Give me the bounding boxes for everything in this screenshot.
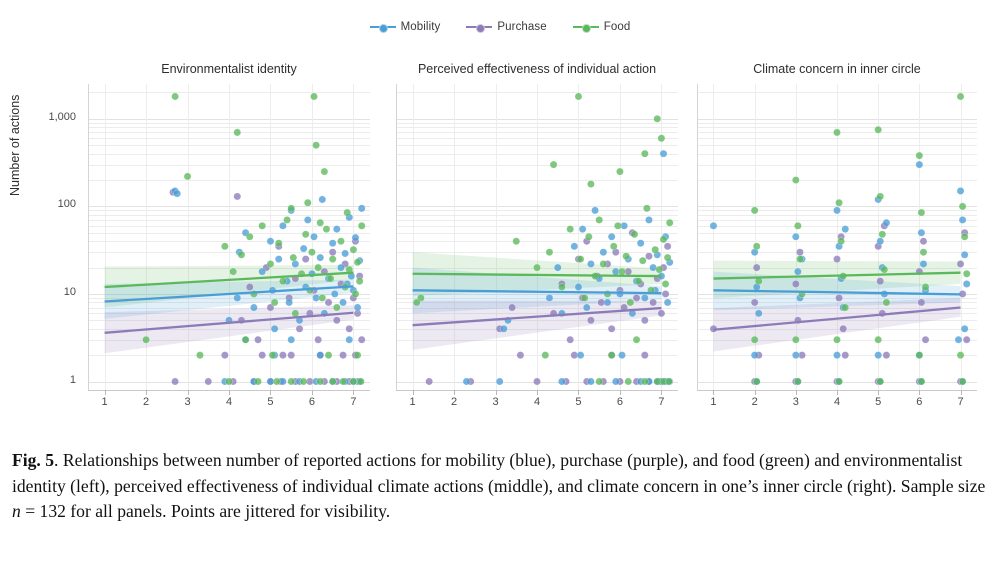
x-tick-mark: [270, 390, 271, 395]
x-tick-mark: [837, 390, 838, 395]
data-point-food: [665, 378, 672, 385]
data-point-food: [550, 161, 557, 168]
data-point-food: [304, 199, 311, 206]
food-legend-key: [573, 21, 599, 33]
data-point-food: [625, 378, 632, 385]
data-point-mobility: [792, 233, 799, 240]
data-point-mobility: [963, 280, 970, 287]
x-tick-mark: [413, 390, 414, 395]
data-point-mobility: [600, 249, 607, 256]
data-point-food: [918, 209, 925, 216]
data-point-food: [641, 150, 648, 157]
data-point-purchase: [608, 325, 615, 332]
data-point-food: [317, 378, 324, 385]
data-point-mobility: [292, 260, 299, 267]
data-point-food: [238, 251, 245, 258]
data-point-purchase: [957, 260, 964, 267]
data-point-mobility: [234, 294, 241, 301]
data-point-mobility: [310, 233, 317, 240]
data-point-mobility: [755, 310, 762, 317]
data-point-food: [581, 294, 588, 301]
x-tick-mark: [755, 390, 756, 395]
data-point-purchase: [339, 352, 346, 359]
data-point-food: [533, 264, 540, 271]
data-point-mobility: [710, 222, 717, 229]
data-point-mobility: [571, 243, 578, 250]
y-axis-ticks: 1,000100101: [30, 0, 76, 438]
data-point-food: [875, 126, 882, 133]
data-point-mobility: [500, 325, 507, 332]
data-point-mobility: [463, 378, 470, 385]
data-point-mobility: [957, 187, 964, 194]
data-point-purchase: [796, 249, 803, 256]
data-point-mobility: [300, 245, 307, 252]
data-point-mobility: [250, 304, 257, 311]
data-point-food: [350, 246, 357, 253]
data-point-mobility: [496, 378, 503, 385]
data-point-food: [639, 257, 646, 264]
data-point-mobility: [920, 260, 927, 267]
x-tick-label-p2-3: 4: [834, 396, 840, 408]
caption-text-part1: . Relationships between number of report…: [12, 450, 985, 496]
data-point-mobility: [271, 325, 278, 332]
panel-title-1: Perceived effectiveness of individual ac…: [396, 62, 678, 76]
y-tick-label-1: 100: [30, 198, 76, 210]
x-tick-label-p2-4: 5: [875, 396, 881, 408]
data-point-food: [321, 168, 328, 175]
data-point-food: [288, 378, 295, 385]
data-point-food: [658, 135, 665, 142]
x-tick-label-p2-0: 1: [710, 396, 716, 408]
data-point-food: [959, 378, 966, 385]
data-point-mobility: [875, 352, 882, 359]
data-point-mobility: [616, 290, 623, 297]
data-point-food: [302, 231, 309, 238]
data-point-food: [354, 259, 361, 266]
data-point-purchase: [279, 352, 286, 359]
caption-text-part2: = 132 for all panels. Points are jittere…: [21, 501, 390, 521]
data-point-purchase: [358, 336, 365, 343]
data-point-purchase: [877, 278, 884, 285]
data-point-food: [329, 256, 336, 263]
data-point-mobility: [329, 240, 336, 247]
x-tick-label-p2-6: 7: [957, 396, 963, 408]
data-point-purchase: [288, 352, 295, 359]
data-point-mobility: [587, 378, 594, 385]
data-point-purchase: [645, 253, 652, 260]
data-point-purchase: [325, 299, 332, 306]
x-tick-mark: [620, 390, 621, 395]
figure-caption: Fig. 5. Relationships between number of …: [12, 448, 988, 525]
data-point-food: [796, 256, 803, 263]
data-point-mobility: [174, 190, 181, 197]
y-tick-label-2: 10: [30, 286, 76, 298]
data-point-food: [835, 378, 842, 385]
y-tick-label-0: 1,000: [30, 111, 76, 123]
data-point-mobility: [618, 352, 625, 359]
legend-item-food: Food: [573, 21, 631, 33]
data-point-food: [881, 266, 888, 273]
x-tick-mark: [105, 390, 106, 395]
data-point-food: [652, 246, 659, 253]
data-point-food: [357, 378, 364, 385]
data-point-mobility: [842, 226, 849, 233]
data-point-food: [623, 253, 630, 260]
x-tick-mark: [496, 390, 497, 395]
x-tick-mark: [454, 390, 455, 395]
data-point-food: [259, 222, 266, 229]
data-point-purchase: [315, 336, 322, 343]
data-point-purchase: [533, 378, 540, 385]
data-point-mobility: [604, 299, 611, 306]
data-point-purchase: [633, 294, 640, 301]
legend-label-food: Food: [604, 21, 631, 33]
data-point-mobility: [317, 352, 324, 359]
data-point-food: [662, 280, 669, 287]
x-tick-mark: [188, 390, 189, 395]
x-tick-mark: [919, 390, 920, 395]
data-point-food: [319, 294, 326, 301]
mobility-legend-key: [370, 21, 396, 33]
data-point-purchase: [296, 325, 303, 332]
data-point-mobility: [959, 216, 966, 223]
data-point-purchase: [254, 336, 261, 343]
data-point-purchase: [920, 238, 927, 245]
data-point-purchase: [641, 317, 648, 324]
data-point-food: [242, 336, 249, 343]
data-point-food: [643, 205, 650, 212]
x-tick-mark: [578, 390, 579, 395]
data-point-food: [963, 270, 970, 277]
data-point-food: [300, 378, 307, 385]
data-point-purchase: [329, 249, 336, 256]
data-point-food: [961, 233, 968, 240]
x-tick-label-p1-2: 3: [492, 396, 498, 408]
data-point-purchase: [792, 280, 799, 287]
x-tick-label-p1-6: 7: [658, 396, 664, 408]
data-point-food: [310, 93, 317, 100]
data-point-purchase: [205, 378, 212, 385]
data-point-food: [753, 243, 760, 250]
data-point-mobility: [352, 234, 359, 241]
x-tick-mark: [229, 390, 230, 395]
data-point-food: [916, 352, 923, 359]
data-point-food: [323, 226, 330, 233]
x-tick-mark: [961, 390, 962, 395]
data-point-food: [279, 278, 286, 285]
data-point-food: [635, 278, 642, 285]
data-point-purchase: [171, 378, 178, 385]
data-point-purchase: [259, 352, 266, 359]
data-point-food: [792, 336, 799, 343]
data-point-food: [221, 243, 228, 250]
data-point-food: [546, 249, 553, 256]
data-point-food: [317, 219, 324, 226]
data-point-mobility: [267, 238, 274, 245]
x-tick-label-p1-5: 6: [617, 396, 623, 408]
x-tick-mark: [312, 390, 313, 395]
data-point-food: [633, 336, 640, 343]
data-point-food: [290, 254, 297, 261]
data-point-food: [184, 173, 191, 180]
data-point-food: [666, 219, 673, 226]
data-point-food: [329, 378, 336, 385]
data-point-food: [356, 278, 363, 285]
data-point-purchase: [333, 317, 340, 324]
panel-title-0: Environmentalist identity: [88, 62, 370, 76]
data-point-mobility: [794, 268, 801, 275]
data-point-food: [283, 216, 290, 223]
data-point-mobility: [591, 207, 598, 214]
data-point-food: [513, 238, 520, 245]
data-point-mobility: [304, 216, 311, 223]
data-point-purchase: [567, 336, 574, 343]
scatter-panel-0: [88, 84, 370, 390]
data-point-food: [269, 352, 276, 359]
x-tick-label-p1-1: 2: [451, 396, 457, 408]
data-point-food: [271, 299, 278, 306]
x-tick-label-p0-5: 6: [309, 396, 315, 408]
data-point-food: [292, 310, 299, 317]
data-point-food: [922, 283, 929, 290]
data-point-purchase: [963, 336, 970, 343]
data-point-mobility: [961, 251, 968, 258]
legend-item-purchase: Purchase: [466, 21, 546, 33]
data-point-mobility: [317, 254, 324, 261]
data-point-food: [234, 129, 241, 136]
data-point-mobility: [579, 226, 586, 233]
data-point-food: [596, 378, 603, 385]
x-tick-label-p2-2: 3: [793, 396, 799, 408]
data-point-food: [751, 207, 758, 214]
data-point-purchase: [346, 325, 353, 332]
data-point-purchase: [246, 283, 253, 290]
data-point-food: [751, 336, 758, 343]
data-point-mobility: [331, 290, 338, 297]
data-point-purchase: [883, 352, 890, 359]
data-point-food: [610, 243, 617, 250]
data-point-mobility: [546, 294, 553, 301]
data-point-food: [641, 378, 648, 385]
data-point-mobility: [916, 161, 923, 168]
figure-panel: MobilityPurchaseFood Number of actions 1…: [0, 0, 1000, 438]
data-point-food: [656, 266, 663, 273]
data-point-food: [794, 378, 801, 385]
data-point-food: [337, 238, 344, 245]
x-tick-mark: [146, 390, 147, 395]
data-point-food: [918, 378, 925, 385]
y-tick-label-3: 1: [30, 374, 76, 386]
data-point-food: [567, 226, 574, 233]
data-point-mobility: [918, 229, 925, 236]
data-point-mobility: [645, 216, 652, 223]
data-point-purchase: [753, 264, 760, 271]
data-point-food: [627, 299, 634, 306]
data-point-food: [267, 260, 274, 267]
data-point-mobility: [877, 238, 884, 245]
panel-title-2: Climate concern in inner circle: [697, 62, 977, 76]
data-point-food: [312, 142, 319, 149]
data-point-mobility: [664, 299, 671, 306]
data-point-mobility: [641, 294, 648, 301]
data-point-food: [842, 304, 849, 311]
data-point-purchase: [662, 290, 669, 297]
data-point-food: [327, 275, 334, 282]
data-point-mobility: [577, 352, 584, 359]
data-point-purchase: [221, 352, 228, 359]
x-tick-label-p1-3: 4: [534, 396, 540, 408]
data-point-food: [664, 254, 671, 261]
data-point-food: [616, 168, 623, 175]
x-tick-label-p0-4: 5: [267, 396, 273, 408]
data-point-purchase: [517, 352, 524, 359]
data-point-purchase: [833, 256, 840, 263]
data-point-mobility: [558, 378, 565, 385]
legend-label-purchase: Purchase: [497, 21, 546, 33]
purchase-legend-key: [466, 21, 492, 33]
x-tick-label-p0-1: 2: [143, 396, 149, 408]
caption-n-symbol: n: [12, 501, 21, 521]
data-point-food: [413, 299, 420, 306]
data-point-food: [171, 93, 178, 100]
data-point-purchase: [922, 336, 929, 343]
data-point-food: [358, 222, 365, 229]
data-point-food: [587, 180, 594, 187]
data-point-mobility: [833, 352, 840, 359]
data-point-mobility: [342, 250, 349, 257]
data-point-purchase: [840, 325, 847, 332]
data-point-food: [875, 336, 882, 343]
data-point-purchase: [650, 299, 657, 306]
x-tick-mark: [796, 390, 797, 395]
data-point-food: [794, 222, 801, 229]
data-point-mobility: [955, 336, 962, 343]
data-point-food: [877, 193, 884, 200]
data-point-food: [558, 283, 565, 290]
x-tick-mark: [878, 390, 879, 395]
legend-item-mobility: Mobility: [370, 21, 441, 33]
data-point-food: [833, 129, 840, 136]
data-point-mobility: [637, 240, 644, 247]
x-tick-label-p0-2: 3: [184, 396, 190, 408]
data-point-food: [575, 93, 582, 100]
x-tick-label-p0-0: 1: [102, 396, 108, 408]
data-point-food: [542, 352, 549, 359]
data-point-food: [835, 199, 842, 206]
data-point-food: [833, 336, 840, 343]
data-point-food: [660, 236, 667, 243]
data-point-purchase: [302, 256, 309, 263]
data-point-purchase: [918, 299, 925, 306]
data-point-food: [959, 203, 966, 210]
x-tick-label-p1-4: 5: [575, 396, 581, 408]
data-point-food: [577, 256, 584, 263]
x-tick-mark: [353, 390, 354, 395]
data-point-food: [608, 352, 615, 359]
data-point-mobility: [575, 283, 582, 290]
data-point-purchase: [658, 310, 665, 317]
x-tick-label-p1-0: 1: [410, 396, 416, 408]
data-point-food: [354, 352, 361, 359]
data-point-food: [308, 249, 315, 256]
data-point-food: [350, 378, 357, 385]
data-point-mobility: [583, 304, 590, 311]
data-point-purchase: [509, 304, 516, 311]
data-point-food: [877, 378, 884, 385]
data-point-food: [315, 264, 322, 271]
data-point-mobility: [286, 299, 293, 306]
caption-figure-number: Fig. 5: [12, 450, 54, 470]
data-point-food: [325, 352, 332, 359]
legend-label-mobility: Mobility: [401, 21, 441, 33]
y-axis-label: Number of actions: [8, 95, 22, 196]
data-point-mobility: [751, 352, 758, 359]
data-point-mobility: [612, 378, 619, 385]
data-point-purchase: [641, 352, 648, 359]
data-point-food: [792, 176, 799, 183]
data-point-food: [957, 352, 964, 359]
scatter-panel-2: [697, 84, 977, 390]
data-point-mobility: [587, 260, 594, 267]
data-point-food: [225, 378, 232, 385]
data-point-mobility: [319, 196, 326, 203]
x-tick-label-p2-5: 6: [916, 396, 922, 408]
data-point-mobility: [275, 256, 282, 263]
data-point-mobility: [554, 264, 561, 271]
x-tick-label-p0-6: 7: [350, 396, 356, 408]
data-point-mobility: [339, 299, 346, 306]
data-point-mobility: [660, 150, 667, 157]
data-point-mobility: [288, 336, 295, 343]
data-point-mobility: [337, 264, 344, 271]
x-tick-mark: [661, 390, 662, 395]
data-point-food: [838, 238, 845, 245]
data-point-food: [333, 304, 340, 311]
data-point-food: [288, 205, 295, 212]
legend: MobilityPurchaseFood: [0, 17, 1000, 37]
panel-data-layer-2: [697, 84, 977, 390]
data-point-food: [246, 233, 253, 240]
data-point-food: [883, 299, 890, 306]
data-point-purchase: [587, 317, 594, 324]
data-point-food: [585, 233, 592, 240]
data-point-food: [230, 268, 237, 275]
x-tick-label-p0-3: 4: [226, 396, 232, 408]
data-point-food: [196, 352, 203, 359]
data-point-food: [753, 378, 760, 385]
data-point-mobility: [333, 226, 340, 233]
data-point-purchase: [835, 294, 842, 301]
data-point-food: [273, 378, 280, 385]
data-point-mobility: [346, 336, 353, 343]
data-point-food: [600, 260, 607, 267]
data-point-food: [254, 378, 261, 385]
data-point-food: [920, 249, 927, 256]
data-point-food: [614, 222, 621, 229]
data-point-food: [631, 231, 638, 238]
data-point-food: [344, 209, 351, 216]
data-point-purchase: [234, 193, 241, 200]
data-point-purchase: [664, 243, 671, 250]
data-point-purchase: [426, 378, 433, 385]
x-tick-label-p2-1: 2: [752, 396, 758, 408]
data-point-mobility: [358, 205, 365, 212]
scatter-panel-1: [396, 84, 678, 390]
data-point-food: [142, 336, 149, 343]
data-point-food: [879, 231, 886, 238]
data-point-mobility: [883, 219, 890, 226]
x-tick-mark: [713, 390, 714, 395]
